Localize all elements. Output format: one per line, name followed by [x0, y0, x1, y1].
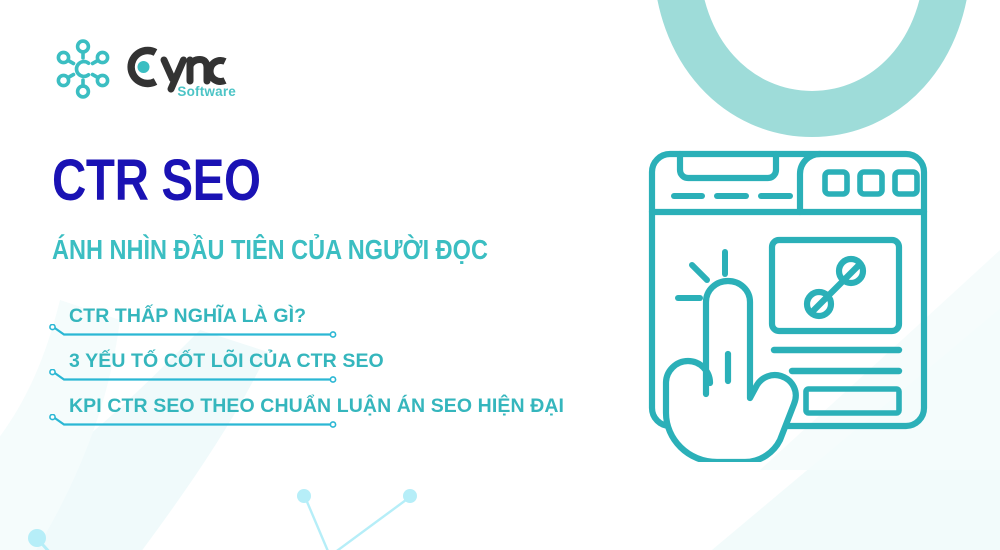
list-item[interactable]: KPI CTR SEO THEO CHUẨN LUẬN ÁN SEO HIỆN …	[48, 393, 668, 438]
decor-dot-corner	[28, 529, 46, 547]
cyno-network-mark-icon	[50, 36, 116, 102]
poster-canvas: Software CTR SEO ÁNH NHÌN ĐẦU TIÊN CỦA N…	[0, 0, 1000, 550]
decor-dot-left	[297, 489, 311, 503]
decor-line-right	[330, 497, 410, 550]
list-item[interactable]: CTR THẤP NGHĨA LÀ GÌ?	[48, 303, 668, 348]
decor-line-left	[305, 497, 330, 550]
list-item-rule	[48, 369, 338, 385]
page-title: CTR SEO	[52, 152, 261, 210]
list-item-rule	[48, 324, 338, 340]
browser-tab	[680, 154, 776, 178]
cyno-wordmark: Software	[126, 41, 238, 97]
brand-logo[interactable]: Software	[50, 36, 238, 102]
logo-tagline: Software	[177, 84, 236, 99]
browser-header-split	[800, 154, 820, 212]
list-item-rule	[48, 414, 338, 430]
browser-control-squares	[825, 172, 917, 194]
browser-click-percent-illustration	[622, 132, 952, 462]
cta-button	[806, 389, 899, 413]
percent-slash	[812, 265, 859, 312]
list-item[interactable]: 3 YẾU TỐ CỐT LÕI CỦA CTR SEO	[48, 348, 668, 393]
decor-dot-corner-tail	[43, 545, 52, 550]
topic-list: CTR THẤP NGHĨA LÀ GÌ? 3 YẾU TỐ CỐT LÕI C…	[48, 303, 668, 438]
top-right-wave-decor	[676, 0, 948, 114]
page-subtitle: ÁNH NHÌN ĐẦU TIÊN CỦA NGƯỜI ĐỌC	[52, 235, 488, 265]
decor-dot-right	[403, 489, 417, 503]
